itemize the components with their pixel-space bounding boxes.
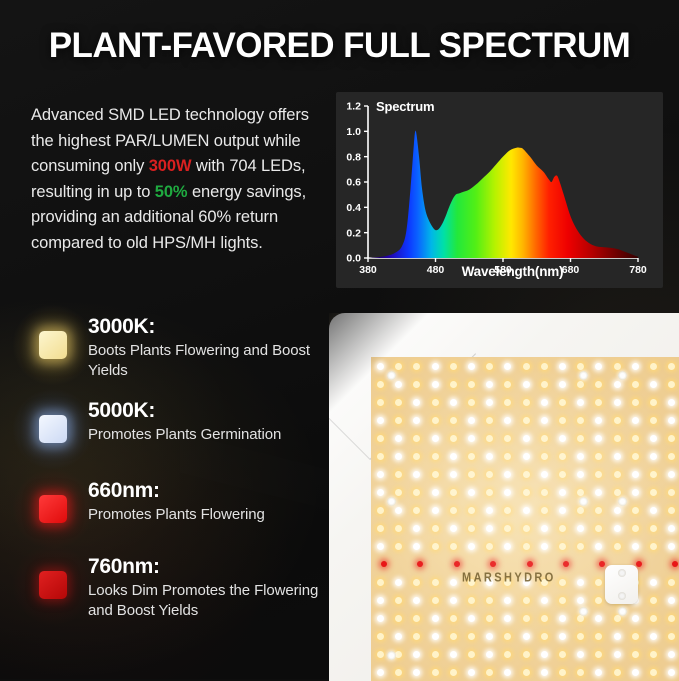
- led-warm-white: [504, 651, 511, 658]
- led-cool-white: [559, 381, 566, 388]
- led-warm-white: [486, 363, 493, 370]
- led-red: [527, 561, 533, 567]
- led-cool-white: [541, 471, 548, 478]
- led-warm-white: [432, 597, 439, 604]
- legend-description: Promotes Plants Flowering: [88, 505, 338, 525]
- led-warm-white: [577, 489, 584, 496]
- led-cool-white: [486, 399, 493, 406]
- led-warm-white: [413, 453, 420, 460]
- product-image-led-panel: MARSHYDRO MA: [329, 313, 679, 681]
- led-warm-white: [395, 615, 402, 622]
- led-warm-white: [486, 417, 493, 424]
- led-cool-white: [650, 453, 657, 460]
- led-cool-white: [668, 471, 675, 478]
- led-cool-white: [413, 417, 420, 424]
- led-warm-white: [559, 417, 566, 424]
- led-warm-white: [395, 669, 402, 676]
- chart-x-axis-label: Wavelength(nm): [336, 264, 663, 279]
- led-warm-white: [413, 381, 420, 388]
- led-cool-white: [668, 597, 675, 604]
- led-red: [599, 561, 605, 567]
- led-cool-white: [650, 435, 657, 442]
- led-cool-white: [377, 615, 384, 622]
- led-warm-white: [632, 453, 639, 460]
- led-warm-white: [595, 399, 602, 406]
- led-cool-white: [377, 363, 384, 370]
- led-warm-white: [650, 669, 657, 676]
- led-warm-white: [377, 579, 384, 586]
- led-warm-white: [650, 525, 657, 532]
- led-cool-white: [377, 489, 384, 496]
- led-cool-white: [432, 507, 439, 514]
- led-warm-white: [559, 399, 566, 406]
- led-cool-white: [559, 363, 566, 370]
- led-board: MARSHYDRO MA: [371, 357, 679, 681]
- led-cool-white: [504, 471, 511, 478]
- led-cool-white: [577, 579, 584, 586]
- led-cool-white: [523, 507, 530, 514]
- led-warm-white: [541, 507, 548, 514]
- led-cool-white: [486, 507, 493, 514]
- led-warm-white: [668, 615, 675, 622]
- led-cool-white: [523, 435, 530, 442]
- led-warm-white: [432, 399, 439, 406]
- led-cool-white: [668, 651, 675, 658]
- led-cool-white: [432, 363, 439, 370]
- led-warm-white: [523, 543, 530, 550]
- led-cool-white: [432, 381, 439, 388]
- legend-description: Boots Plants Flowering and Boost Yields: [88, 341, 338, 381]
- led-warm-white: [450, 507, 457, 514]
- led-cool-white: [541, 525, 548, 532]
- led-cool-white: [450, 471, 457, 478]
- led-warm-white: [395, 489, 402, 496]
- led-warm-white: [504, 453, 511, 460]
- led-warm-white: [577, 435, 584, 442]
- led-red: [454, 561, 460, 567]
- spectrum-chart: Spectrum: [336, 92, 663, 288]
- led-warm-white: [523, 399, 530, 406]
- led-warm-white: [650, 597, 657, 604]
- chart-canvas: 0.00.20.40.60.81.01.2 380480580680780: [336, 92, 663, 288]
- board-screw: [579, 371, 588, 380]
- led-cool-white: [450, 399, 457, 406]
- led-warm-white: [541, 615, 548, 622]
- led-warm-white: [650, 489, 657, 496]
- svg-text:1.0: 1.0: [346, 126, 361, 138]
- led-swatch-far-red-icon: [26, 558, 80, 612]
- led-warm-white: [595, 453, 602, 460]
- led-cool-white: [632, 363, 639, 370]
- led-warm-white: [614, 489, 621, 496]
- led-cool-white: [650, 579, 657, 586]
- led-cool-white: [395, 435, 402, 442]
- led-cool-white: [559, 507, 566, 514]
- led-warm-white: [668, 507, 675, 514]
- led-cool-white: [541, 651, 548, 658]
- led-cool-white: [413, 651, 420, 658]
- led-warm-white: [395, 651, 402, 658]
- led-cool-white: [668, 399, 675, 406]
- spectrum-area: [368, 131, 638, 258]
- legend-title: 5000K:: [88, 399, 155, 423]
- led-cool-white: [650, 381, 657, 388]
- led-cool-white: [614, 381, 621, 388]
- led-warm-white: [504, 507, 511, 514]
- description-paragraph: Advanced SMD LED technology offers the h…: [31, 103, 331, 256]
- led-warm-white: [504, 525, 511, 532]
- led-swatch-cool-white-icon: [26, 402, 80, 456]
- led-warm-white: [450, 417, 457, 424]
- led-cool-white: [559, 489, 566, 496]
- led-warm-white: [413, 507, 420, 514]
- led-warm-white: [650, 471, 657, 478]
- led-cool-white: [559, 435, 566, 442]
- mount-screw-bottom: [618, 592, 626, 600]
- led-cool-white: [577, 597, 584, 604]
- led-warm-white: [523, 525, 530, 532]
- led-red: [636, 561, 642, 567]
- led-warm-white: [432, 471, 439, 478]
- svg-text:0.0: 0.0: [346, 253, 361, 265]
- led-warm-white: [395, 417, 402, 424]
- led-cool-white: [614, 525, 621, 532]
- led-warm-white: [632, 525, 639, 532]
- led-cool-white: [668, 417, 675, 424]
- led-cool-white: [486, 525, 493, 532]
- svg-text:0.4: 0.4: [346, 202, 361, 214]
- led-warm-white: [413, 579, 420, 586]
- led-cool-white: [650, 633, 657, 640]
- led-warm-white: [486, 543, 493, 550]
- led-warm-white: [668, 381, 675, 388]
- led-warm-white: [468, 399, 475, 406]
- led-warm-white: [432, 453, 439, 460]
- led-cool-white: [377, 471, 384, 478]
- led-warm-white: [432, 417, 439, 424]
- led-swatch-deep-red-icon: [26, 482, 80, 536]
- led-warm-white: [541, 363, 548, 370]
- led-cool-white: [559, 615, 566, 622]
- led-cool-white: [541, 669, 548, 676]
- led-warm-white: [523, 615, 530, 622]
- led-cool-white: [377, 597, 384, 604]
- led-warm-white: [413, 363, 420, 370]
- led-cool-white: [577, 453, 584, 460]
- board-screw: [618, 497, 627, 506]
- led-red: [672, 561, 678, 567]
- led-red: [563, 561, 569, 567]
- led-cool-white: [468, 669, 475, 676]
- led-warm-white: [559, 543, 566, 550]
- led-cool-white: [504, 597, 511, 604]
- board-screw: [387, 497, 396, 506]
- led-cool-white: [468, 489, 475, 496]
- led-warm-white: [450, 381, 457, 388]
- led-warm-white: [614, 471, 621, 478]
- led-warm-white: [413, 633, 420, 640]
- led-warm-white: [504, 381, 511, 388]
- board-screw: [579, 607, 588, 616]
- led-cool-white: [450, 453, 457, 460]
- led-warm-white: [504, 435, 511, 442]
- led-warm-white: [650, 399, 657, 406]
- led-warm-white: [614, 435, 621, 442]
- led-cool-white: [377, 669, 384, 676]
- led-warm-white: [395, 363, 402, 370]
- led-cool-white: [432, 489, 439, 496]
- led-warm-white: [577, 669, 584, 676]
- led-cool-white: [432, 633, 439, 640]
- led-warm-white: [523, 597, 530, 604]
- board-screw: [387, 651, 396, 660]
- led-warm-white: [668, 579, 675, 586]
- led-cool-white: [668, 669, 675, 676]
- led-warm-white: [595, 633, 602, 640]
- led-cool-white: [395, 579, 402, 586]
- led-warm-white: [504, 399, 511, 406]
- led-warm-white: [559, 525, 566, 532]
- led-cool-white: [377, 417, 384, 424]
- led-warm-white: [395, 597, 402, 604]
- led-warm-white: [486, 471, 493, 478]
- legend-description: Promotes Plants Germination: [88, 425, 338, 445]
- led-warm-white: [559, 579, 566, 586]
- svg-text:0.6: 0.6: [346, 177, 361, 189]
- chart-y-tick-labels: 0.00.20.40.60.81.01.2: [346, 101, 361, 265]
- led-cool-white: [468, 615, 475, 622]
- led-cool-white: [432, 615, 439, 622]
- brand-logo: MARSHYDRO: [462, 571, 556, 585]
- led-cool-white: [377, 543, 384, 550]
- led-warm-white: [395, 471, 402, 478]
- led-cool-white: [559, 633, 566, 640]
- led-cool-white: [595, 489, 602, 496]
- led-cool-white: [468, 363, 475, 370]
- led-warm-white: [395, 543, 402, 550]
- led-cool-white: [632, 615, 639, 622]
- board-screw: [579, 497, 588, 506]
- led-warm-white: [559, 453, 566, 460]
- led-cool-white: [614, 651, 621, 658]
- led-warm-white: [614, 543, 621, 550]
- led-warm-white: [413, 489, 420, 496]
- led-warm-white: [523, 669, 530, 676]
- led-warm-white: [432, 579, 439, 586]
- led-warm-white: [650, 363, 657, 370]
- led-warm-white: [377, 507, 384, 514]
- led-warm-white: [450, 363, 457, 370]
- led-cool-white: [395, 507, 402, 514]
- led-cool-white: [523, 453, 530, 460]
- led-cool-white: [541, 417, 548, 424]
- led-cool-white: [632, 471, 639, 478]
- led-cool-white: [486, 381, 493, 388]
- led-cool-white: [504, 417, 511, 424]
- led-warm-white: [632, 651, 639, 658]
- led-warm-white: [377, 453, 384, 460]
- led-grid: [371, 357, 679, 681]
- led-warm-white: [486, 435, 493, 442]
- led-cool-white: [632, 669, 639, 676]
- led-cool-white: [413, 543, 420, 550]
- board-screw: [387, 371, 396, 380]
- led-cool-white: [486, 453, 493, 460]
- led-warm-white: [541, 453, 548, 460]
- led-cool-white: [650, 507, 657, 514]
- led-warm-white: [577, 507, 584, 514]
- led-cool-white: [450, 579, 457, 586]
- legend-description: Looks Dim Promotes the Flowering and Boo…: [88, 581, 338, 621]
- led-cool-white: [450, 525, 457, 532]
- led-warm-white: [559, 669, 566, 676]
- led-warm-white: [595, 381, 602, 388]
- mount-screw-top: [618, 569, 626, 577]
- led-warm-white: [595, 471, 602, 478]
- led-warm-white: [377, 633, 384, 640]
- board-screw: [618, 371, 627, 380]
- led-cool-white: [413, 525, 420, 532]
- led-warm-white: [468, 633, 475, 640]
- led-cool-white: [395, 453, 402, 460]
- led-cool-white: [504, 669, 511, 676]
- led-warm-white: [468, 453, 475, 460]
- led-warm-white: [523, 363, 530, 370]
- led-cool-white: [541, 597, 548, 604]
- driver-mount-plate: [605, 565, 638, 604]
- led-warm-white: [377, 435, 384, 442]
- led-cool-white: [595, 615, 602, 622]
- led-warm-white: [632, 399, 639, 406]
- led-warm-white: [413, 615, 420, 622]
- legend-title: 660nm:: [88, 479, 160, 503]
- led-warm-white: [577, 615, 584, 622]
- led-warm-white: [395, 525, 402, 532]
- led-warm-white: [595, 651, 602, 658]
- led-cool-white: [541, 399, 548, 406]
- led-cool-white: [614, 633, 621, 640]
- led-cool-white: [486, 651, 493, 658]
- led-cool-white: [595, 435, 602, 442]
- led-warm-white: [577, 417, 584, 424]
- led-warm-white: [432, 525, 439, 532]
- led-warm-white: [468, 597, 475, 604]
- led-warm-white: [377, 399, 384, 406]
- led-swatch-warm-white-icon: [26, 318, 80, 372]
- led-cool-white: [577, 525, 584, 532]
- svg-text:1.2: 1.2: [346, 101, 361, 113]
- led-warm-white: [450, 669, 457, 676]
- led-warm-white: [450, 489, 457, 496]
- led-warm-white: [595, 597, 602, 604]
- led-cool-white: [632, 417, 639, 424]
- led-warm-white: [614, 363, 621, 370]
- led-warm-white: [486, 489, 493, 496]
- led-cool-white: [541, 543, 548, 550]
- led-cool-white: [504, 543, 511, 550]
- led-warm-white: [523, 489, 530, 496]
- led-warm-white: [432, 543, 439, 550]
- led-warm-white: [595, 525, 602, 532]
- led-cool-white: [668, 525, 675, 532]
- led-cool-white: [504, 363, 511, 370]
- board-screw: [618, 607, 627, 616]
- led-warm-white: [450, 615, 457, 622]
- led-warm-white: [413, 435, 420, 442]
- led-cool-white: [450, 651, 457, 658]
- led-cool-white: [450, 597, 457, 604]
- led-cool-white: [395, 381, 402, 388]
- led-warm-white: [632, 507, 639, 514]
- led-warm-white: [450, 435, 457, 442]
- led-warm-white: [468, 651, 475, 658]
- led-warm-white: [468, 381, 475, 388]
- svg-text:0.8: 0.8: [346, 151, 361, 163]
- led-cool-white: [432, 435, 439, 442]
- led-cool-white: [413, 669, 420, 676]
- led-red: [381, 561, 387, 567]
- led-warm-white: [650, 417, 657, 424]
- led-warm-white: [614, 417, 621, 424]
- led-warm-white: [523, 417, 530, 424]
- led-warm-white: [577, 633, 584, 640]
- led-warm-white: [650, 615, 657, 622]
- led-cool-white: [632, 543, 639, 550]
- led-warm-white: [559, 651, 566, 658]
- led-cool-white: [614, 507, 621, 514]
- led-cool-white: [468, 543, 475, 550]
- led-cool-white: [523, 633, 530, 640]
- led-cool-white: [577, 651, 584, 658]
- led-cool-white: [668, 543, 675, 550]
- led-warm-white: [541, 489, 548, 496]
- led-cool-white: [523, 381, 530, 388]
- led-warm-white: [541, 435, 548, 442]
- led-warm-white: [668, 453, 675, 460]
- led-warm-white: [559, 597, 566, 604]
- led-warm-white: [541, 381, 548, 388]
- led-warm-white: [523, 471, 530, 478]
- led-cool-white: [614, 453, 621, 460]
- legend-title: 3000K:: [88, 315, 155, 339]
- led-cool-white: [468, 435, 475, 442]
- led-warm-white: [432, 669, 439, 676]
- led-cool-white: [486, 633, 493, 640]
- led-warm-white: [632, 633, 639, 640]
- led-warm-white: [559, 471, 566, 478]
- led-cool-white: [504, 489, 511, 496]
- led-cool-white: [413, 597, 420, 604]
- led-cool-white: [595, 669, 602, 676]
- led-warm-white: [395, 399, 402, 406]
- led-cool-white: [577, 471, 584, 478]
- led-warm-white: [632, 381, 639, 388]
- led-warm-white: [614, 669, 621, 676]
- legend-title: 760nm:: [88, 555, 160, 579]
- led-warm-white: [632, 435, 639, 442]
- led-warm-white: [541, 633, 548, 640]
- led-warm-white: [486, 669, 493, 676]
- led-cool-white: [395, 633, 402, 640]
- led-warm-white: [577, 543, 584, 550]
- led-warm-white: [377, 525, 384, 532]
- led-cool-white: [413, 399, 420, 406]
- led-warm-white: [468, 471, 475, 478]
- led-cool-white: [595, 543, 602, 550]
- led-warm-white: [595, 507, 602, 514]
- led-warm-white: [450, 543, 457, 550]
- highlight-savings: 50%: [155, 183, 188, 201]
